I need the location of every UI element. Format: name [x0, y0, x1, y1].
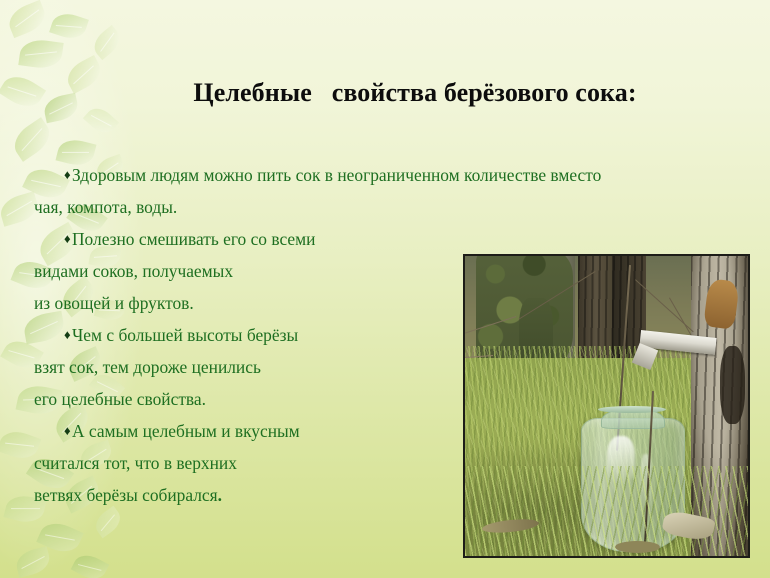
birch-sap-photo	[463, 254, 750, 558]
paragraph-text: А самым целебным и вкусным	[64, 416, 300, 446]
paragraph-text: чая, компота, воды.	[34, 197, 177, 217]
leaf-icon	[8, 117, 56, 162]
bullet-icon: ♦	[64, 224, 71, 254]
paragraph-text: ветвях берёзы собирался	[34, 485, 218, 505]
photo-birch-hollow	[720, 346, 745, 424]
continuation-line: чая, компота, воды.	[34, 192, 734, 222]
paragraph-text: из овощей и фруктов.	[34, 293, 194, 313]
paragraph-text: видами соков, получаемых	[34, 261, 233, 281]
leaf-icon	[5, 0, 50, 38]
bullet-paragraph: ♦Здоровым людям можно пить сок в неогран…	[34, 160, 734, 190]
leaf-icon	[14, 546, 53, 578]
leaf-icon	[89, 25, 125, 60]
leaf-icon	[18, 37, 63, 71]
leaf-icon	[71, 550, 110, 578]
leaf-icon	[49, 9, 89, 42]
page-title: Целебные свойства берёзового сока:	[0, 78, 770, 108]
bullet-icon: ♦	[64, 160, 71, 190]
photo-foreground-grass	[465, 466, 748, 556]
paragraph-final-period: .	[218, 485, 222, 505]
paragraph-text: его целебные свойства.	[34, 389, 206, 409]
bullet-icon: ♦	[64, 320, 71, 350]
paragraph-text: Здоровым людям можно пить сок в неограни…	[64, 160, 601, 190]
slide-canvas: Целебные свойства берёзового сока: ♦Здор…	[0, 0, 770, 578]
leaf-icon	[83, 103, 119, 139]
bullet-icon: ♦	[64, 416, 71, 446]
bullet-paragraph: ♦Полезно смешивать его со всеми	[34, 224, 734, 254]
photo-ground-litter	[615, 541, 660, 553]
paragraph-text: взят сок, тем дороже ценились	[34, 357, 261, 377]
paragraph-text: считался тот, что в верхних	[34, 453, 237, 473]
paragraph-text: Полезно смешивать его со всеми	[64, 224, 315, 254]
paragraph-text: Чем с большей высоты берёзы	[64, 320, 298, 350]
leaf-icon	[36, 517, 84, 558]
